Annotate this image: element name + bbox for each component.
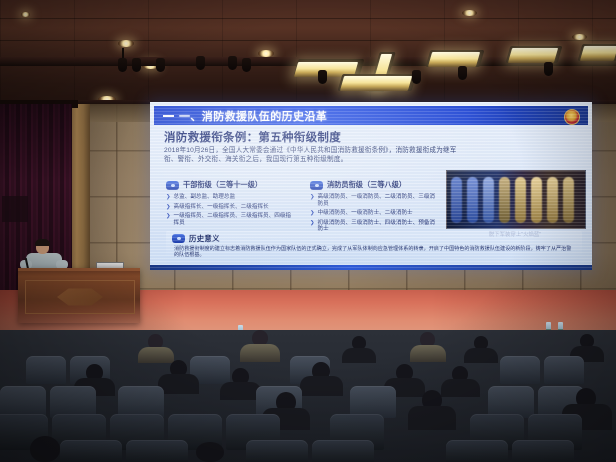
audience-head bbox=[196, 442, 224, 462]
slide-title: 一、消防救援队伍的历史沿革 bbox=[179, 108, 327, 124]
presenter-hair bbox=[35, 239, 50, 246]
ceiling-seam bbox=[0, 40, 616, 41]
column-heading-row: 消防员衔级（三等八级） bbox=[310, 180, 438, 190]
arrow-icon: ❯ bbox=[310, 220, 315, 227]
auditorium-seat bbox=[512, 440, 574, 462]
ceiling-pot-light bbox=[118, 40, 134, 47]
insignia-braid bbox=[467, 177, 478, 223]
bullet-chip-icon bbox=[310, 181, 323, 190]
audience-shoulders bbox=[220, 382, 261, 400]
podium-diamond-inlay bbox=[57, 289, 103, 306]
slide-column-officer-ranks: 干部衔级（三等十一级） ❯ 总监、副总监、助理总监 ❯ 高级指挥长、一级指挥长、… bbox=[166, 180, 294, 229]
ceiling-spotlight bbox=[318, 70, 327, 84]
audience-shoulders bbox=[158, 374, 199, 394]
insignia-braid bbox=[451, 177, 462, 223]
ceiling-pot-light bbox=[258, 50, 274, 57]
audience-shoulders bbox=[342, 348, 376, 363]
ceiling-spotlight bbox=[196, 56, 205, 70]
insignia-braid bbox=[515, 177, 526, 223]
insignia-braid bbox=[563, 177, 574, 223]
auditorium-seat bbox=[246, 440, 308, 462]
list-item: ❯ 中级消防员、一级消防士、二级消防士 bbox=[310, 210, 438, 217]
audience-shoulders bbox=[138, 347, 174, 363]
arrow-icon: ❯ bbox=[166, 204, 171, 211]
ceiling-luminaire bbox=[580, 46, 616, 61]
slide-title-bar: 一、消防救援队伍的历史沿革 bbox=[154, 106, 588, 125]
slide-body-text: 2018年10月26日，全国人大常委会通过《中华人民共和国消防救援衔条例》，消防… bbox=[164, 147, 464, 164]
auditorium-seat bbox=[60, 440, 122, 462]
slide-significance-block: 历史意义 消防救援衔制度的建立标志着消防救援队伍作为国家队伍的正式确立，完成了从… bbox=[166, 231, 582, 263]
insignia-braid bbox=[547, 177, 558, 223]
auditorium-seating bbox=[0, 330, 616, 462]
column-heading-row: 干部衔级（三等十一级） bbox=[166, 180, 294, 190]
auditorium-seat bbox=[544, 356, 584, 384]
auditorium-seat bbox=[312, 440, 374, 462]
list-item: ❯ 一级指挥员、二级指挥员、三级指挥员、四级指挥员 bbox=[166, 213, 294, 226]
audience-shoulders bbox=[410, 345, 446, 362]
ceiling-spotlight bbox=[132, 58, 141, 72]
ceiling-pot-light bbox=[21, 12, 30, 17]
list-item: ❯ 高级消防员、一级消防员、二级消防员、三级消防员 bbox=[310, 194, 438, 207]
list-item-label: 一级指挥员、二级指挥员、三级指挥员、四级指挥员 bbox=[174, 213, 294, 226]
title-dash-icon bbox=[163, 115, 174, 117]
ceiling-spotlight bbox=[412, 70, 421, 84]
auditorium-seat bbox=[26, 356, 66, 384]
auditorium-seat bbox=[126, 440, 188, 462]
rank-insignia-photo bbox=[446, 170, 586, 229]
arrow-icon: ❯ bbox=[310, 194, 315, 201]
slide-bottom-bar bbox=[150, 265, 592, 270]
ceiling-spotlight bbox=[228, 56, 237, 70]
list-item-label: 总监、副总监、助理总监 bbox=[174, 194, 236, 201]
ceiling-seam bbox=[0, 18, 616, 19]
insignia-braid bbox=[499, 177, 510, 223]
ceiling-pot-light bbox=[462, 10, 477, 16]
arrow-icon: ❯ bbox=[310, 210, 315, 217]
insignia-braid bbox=[531, 177, 542, 223]
ceiling-luminaire bbox=[508, 48, 558, 63]
list-item: ❯ 高级指挥长、一级指挥长、二级指挥长 bbox=[166, 204, 294, 211]
audience-shoulders bbox=[441, 379, 480, 397]
ceiling-spotlight bbox=[118, 58, 127, 72]
audience-shoulders bbox=[408, 406, 456, 430]
ceiling-spotlight bbox=[544, 62, 553, 76]
audience-head bbox=[30, 436, 60, 462]
arrow-icon: ❯ bbox=[166, 194, 171, 201]
slide-subtitle: 消防救援衔条例：第五种衔级制度 bbox=[164, 129, 341, 145]
list-item-label: 高级指挥长、一级指挥长、二级指挥长 bbox=[174, 204, 269, 211]
significance-heading-row: 历史意义 bbox=[166, 231, 582, 244]
ceiling-spotlight bbox=[458, 66, 467, 80]
wooden-podium bbox=[18, 268, 140, 323]
insignia-braid bbox=[483, 177, 494, 223]
ceiling-luminaire bbox=[428, 52, 480, 67]
audience-shoulders bbox=[464, 348, 498, 363]
list-item-label: 高级消防员、一级消防员、二级消防员、三级消防员 bbox=[318, 194, 438, 207]
significance-body: 消防救援衔制度的建立标志着消防救援队伍作为国家队伍的正式确立，完成了从军队体制向… bbox=[166, 244, 582, 258]
slide-column-firefighter-ranks: 消防员衔级（三等八级） ❯ 高级消防员、一级消防员、二级消防员、三级消防员 ❯ … bbox=[310, 180, 438, 236]
ceiling-luminaire bbox=[340, 76, 412, 91]
column-heading: 干部衔级（三等十一级） bbox=[183, 180, 262, 190]
ceiling-spotlight bbox=[156, 58, 165, 72]
list-item: ❯ 总监、副总监、助理总监 bbox=[166, 194, 294, 201]
auditorium-seat bbox=[500, 356, 540, 384]
list-item-label: 中级消防员、一级消防士、二级消防士 bbox=[318, 210, 413, 217]
fire-rescue-emblem-icon bbox=[564, 109, 580, 125]
auditorium-seat bbox=[446, 440, 508, 462]
wall-speaker-box bbox=[2, 196, 28, 222]
ceiling-pot-light bbox=[572, 34, 587, 40]
significance-heading: 历史意义 bbox=[189, 233, 220, 244]
audience-shoulders bbox=[300, 376, 343, 396]
audience-shoulders bbox=[240, 344, 280, 362]
presentation-slide: 一、消防救援队伍的历史沿革 消防救援衔条例：第五种衔级制度 2018年10月26… bbox=[150, 102, 592, 270]
bullet-chip-icon bbox=[172, 234, 185, 243]
projection-screen: 一、消防救援队伍的历史沿革 消防救援衔条例：第五种衔级制度 2018年10月26… bbox=[150, 102, 592, 270]
auditorium-photo: 一、消防救援队伍的历史沿革 消防救援衔条例：第五种衔级制度 2018年10月26… bbox=[0, 0, 616, 462]
ceiling-spotlight bbox=[242, 58, 251, 72]
podium-front-panel bbox=[25, 280, 135, 314]
arrow-icon: ❯ bbox=[166, 213, 171, 220]
bullet-chip-icon bbox=[166, 181, 179, 190]
column-heading: 消防员衔级（三等八级） bbox=[327, 180, 406, 190]
